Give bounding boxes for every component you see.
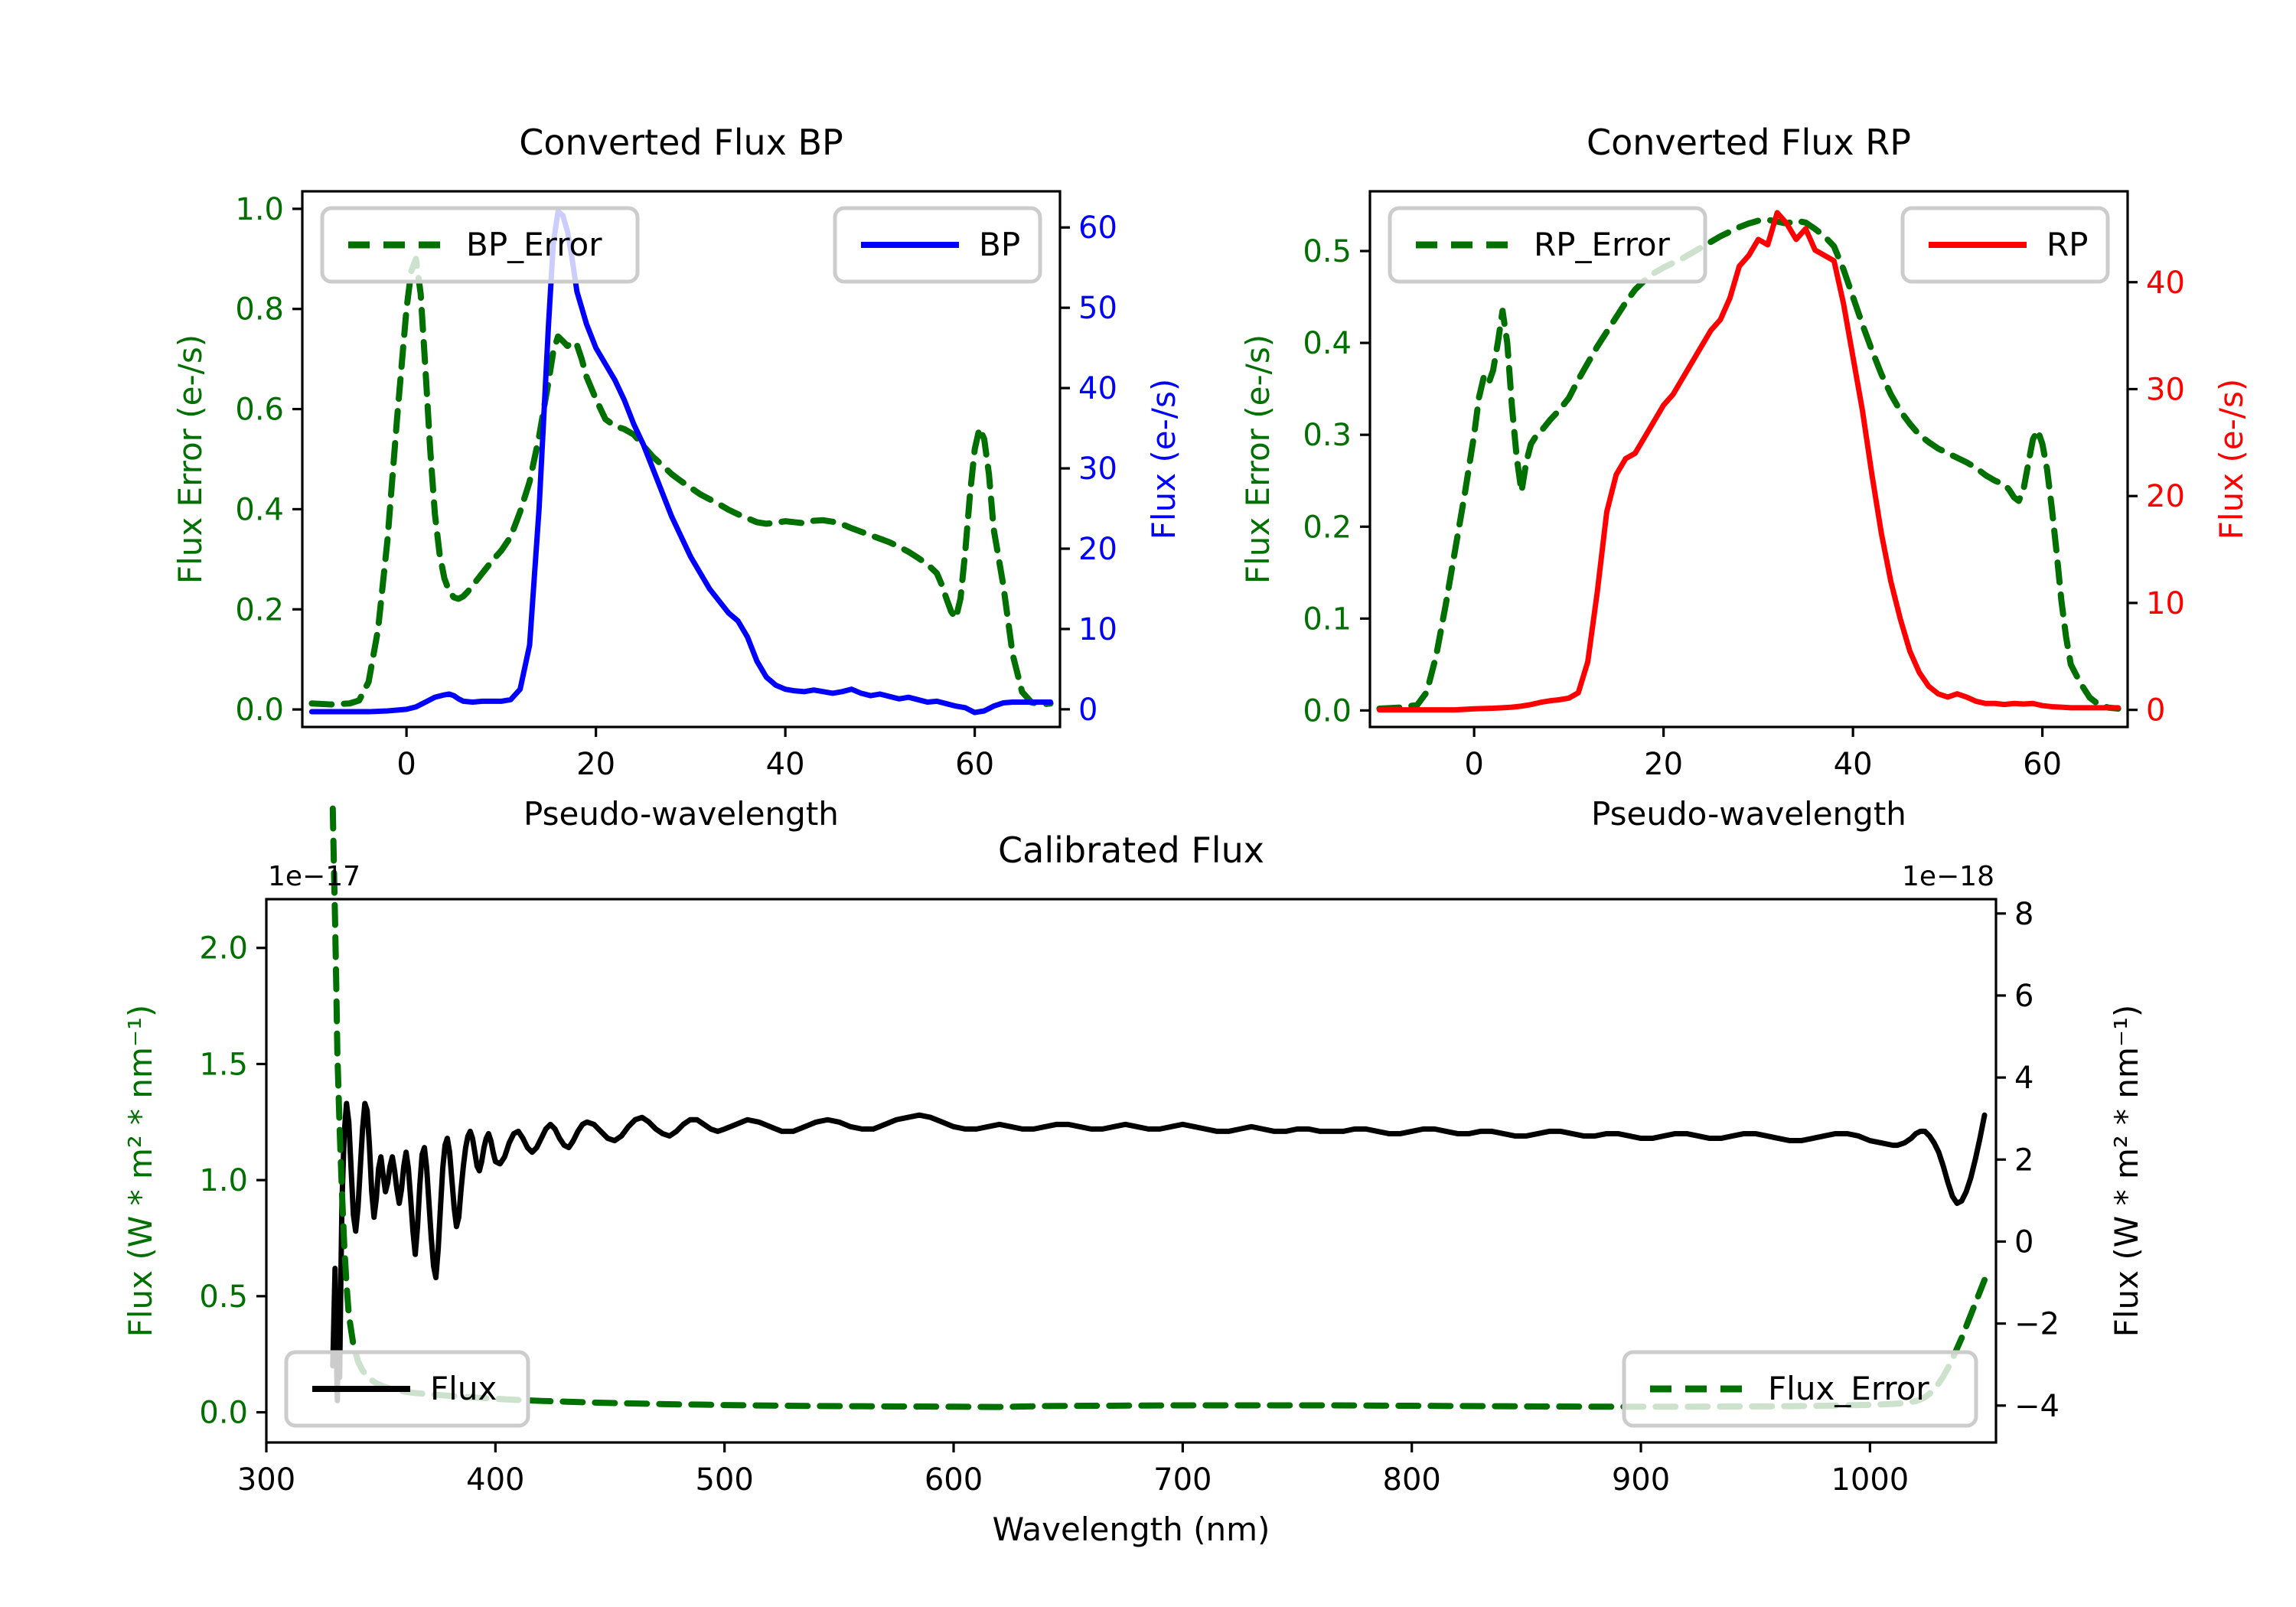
ytick-label-right: −4	[2014, 1389, 2060, 1424]
xtick-label: 600	[925, 1462, 983, 1498]
legend-bp-label: BP	[979, 226, 1020, 263]
legend-flux_error-label: Flux_Error	[1768, 1370, 1929, 1407]
ytick-label-left: 0.6	[235, 393, 284, 428]
ytick-label-right: 4	[2014, 1061, 2033, 1096]
calibrated-flux-xlabel: Wavelength (nm)	[993, 1511, 1270, 1548]
calibrated-flux-offset-left: 1e−17	[268, 861, 360, 892]
ytick-label-left: 0.2	[235, 592, 284, 627]
converted-flux-rp-ylabel-right: Flux (e-/s)	[2213, 379, 2250, 539]
calibrated-flux-offset-right: 1e−18	[1902, 861, 1994, 892]
xtick-label: 400	[466, 1462, 524, 1498]
ytick-label-right: −2	[2014, 1307, 2060, 1342]
ytick-label-right: 0	[1078, 693, 1097, 728]
calibrated-flux-ylabel-left: Flux (W * m² * nm⁻¹)	[122, 1005, 159, 1338]
ytick-label-right: 60	[1078, 210, 1117, 246]
ytick-label-right: 30	[2146, 372, 2185, 407]
legend-rp_error-label: RP_Error	[1534, 226, 1671, 263]
ytick-label-left: 0.4	[235, 492, 284, 527]
ytick-label-left: 0.5	[1303, 234, 1352, 269]
ytick-label-right: 2	[2014, 1143, 2033, 1178]
ytick-label-right: 10	[2146, 586, 2185, 621]
ytick-label-left: 0.4	[1303, 326, 1352, 361]
converted-flux-rp-title: Converted Flux RP	[1587, 122, 1911, 163]
xtick-label: 40	[766, 747, 805, 782]
xtick-label: 40	[1834, 747, 1873, 782]
ytick-label-right: 10	[1078, 612, 1117, 647]
ytick-label-left: 0.1	[1303, 601, 1352, 637]
xtick-label: 60	[955, 747, 994, 782]
calibrated-flux-ylabel-right: Flux (W * m² * nm⁻¹)	[2108, 1005, 2145, 1338]
legend-flux-label: Flux	[430, 1370, 497, 1407]
xtick-label: 500	[695, 1462, 753, 1498]
ytick-label-left: 2.0	[199, 931, 248, 966]
converted-flux-rp-xlabel: Pseudo-wavelength	[1591, 795, 1906, 833]
xtick-label: 800	[1383, 1462, 1441, 1498]
ytick-label-left: 1.0	[235, 192, 284, 227]
converted-flux-bp-xlabel: Pseudo-wavelength	[523, 795, 839, 833]
ytick-label-right: 40	[1078, 371, 1117, 406]
ytick-label-left: 1.5	[199, 1047, 248, 1082]
converted-flux-bp-ylabel-left: Flux Error (e-/s)	[171, 334, 209, 584]
figure-canvas: Converted Flux BP Pseudo-wavelength Flux…	[0, 0, 2296, 1607]
ytick-label-left: 0.3	[1303, 418, 1352, 453]
ytick-label-left: 0.0	[235, 693, 284, 728]
xtick-label: 20	[576, 747, 615, 782]
ytick-label-left: 0.5	[199, 1279, 248, 1315]
ytick-label-right: 20	[1078, 532, 1117, 567]
ytick-label-right: 30	[1078, 451, 1117, 487]
ytick-label-right: 40	[2146, 266, 2185, 301]
ytick-label-right: 0	[2146, 693, 2165, 729]
xtick-label: 60	[2023, 747, 2062, 782]
ytick-label-right: 20	[2146, 479, 2185, 514]
legend-rp_error[interactable]: RP_Error	[1390, 208, 1705, 282]
xtick-label: 20	[1644, 747, 1683, 782]
ytick-label-left: 0.8	[235, 292, 284, 328]
legend-bp[interactable]: BP	[835, 208, 1040, 282]
calibrated-flux-title: Calibrated Flux	[998, 830, 1264, 871]
legend-flux_error[interactable]: Flux_Error	[1624, 1352, 1976, 1426]
matplotlib-figure: Converted Flux BP Pseudo-wavelength Flux…	[0, 0, 2296, 1607]
ytick-label-left: 0.2	[1303, 510, 1352, 545]
legend-flux[interactable]: Flux	[286, 1352, 528, 1426]
converted-flux-bp-title: Converted Flux BP	[519, 122, 843, 163]
converted-flux-bp-ylabel-right: Flux (e-/s)	[1145, 379, 1182, 539]
ytick-label-left: 1.0	[199, 1163, 248, 1198]
xtick-label: 700	[1153, 1462, 1212, 1498]
ytick-label-left: 0.0	[199, 1396, 248, 1431]
xtick-label: 0	[396, 747, 416, 782]
legend-rp[interactable]: RP	[1903, 208, 2108, 282]
ytick-label-right: 50	[1078, 291, 1117, 326]
ytick-label-right: 6	[2014, 979, 2033, 1014]
ytick-label-right: 8	[2014, 897, 2033, 932]
legend-rp-label: RP	[2047, 226, 2089, 263]
xtick-label: 0	[1464, 747, 1483, 782]
legend-bp_error-label: BP_Error	[466, 226, 602, 263]
ytick-label-right: 0	[2014, 1224, 2033, 1260]
xtick-label: 900	[1612, 1462, 1670, 1498]
legend-bp_error[interactable]: BP_Error	[322, 208, 638, 282]
xtick-label: 300	[237, 1462, 295, 1498]
ytick-label-left: 0.0	[1303, 693, 1352, 729]
xtick-label: 1000	[1831, 1462, 1909, 1498]
converted-flux-rp-ylabel-left: Flux Error (e-/s)	[1239, 334, 1277, 584]
